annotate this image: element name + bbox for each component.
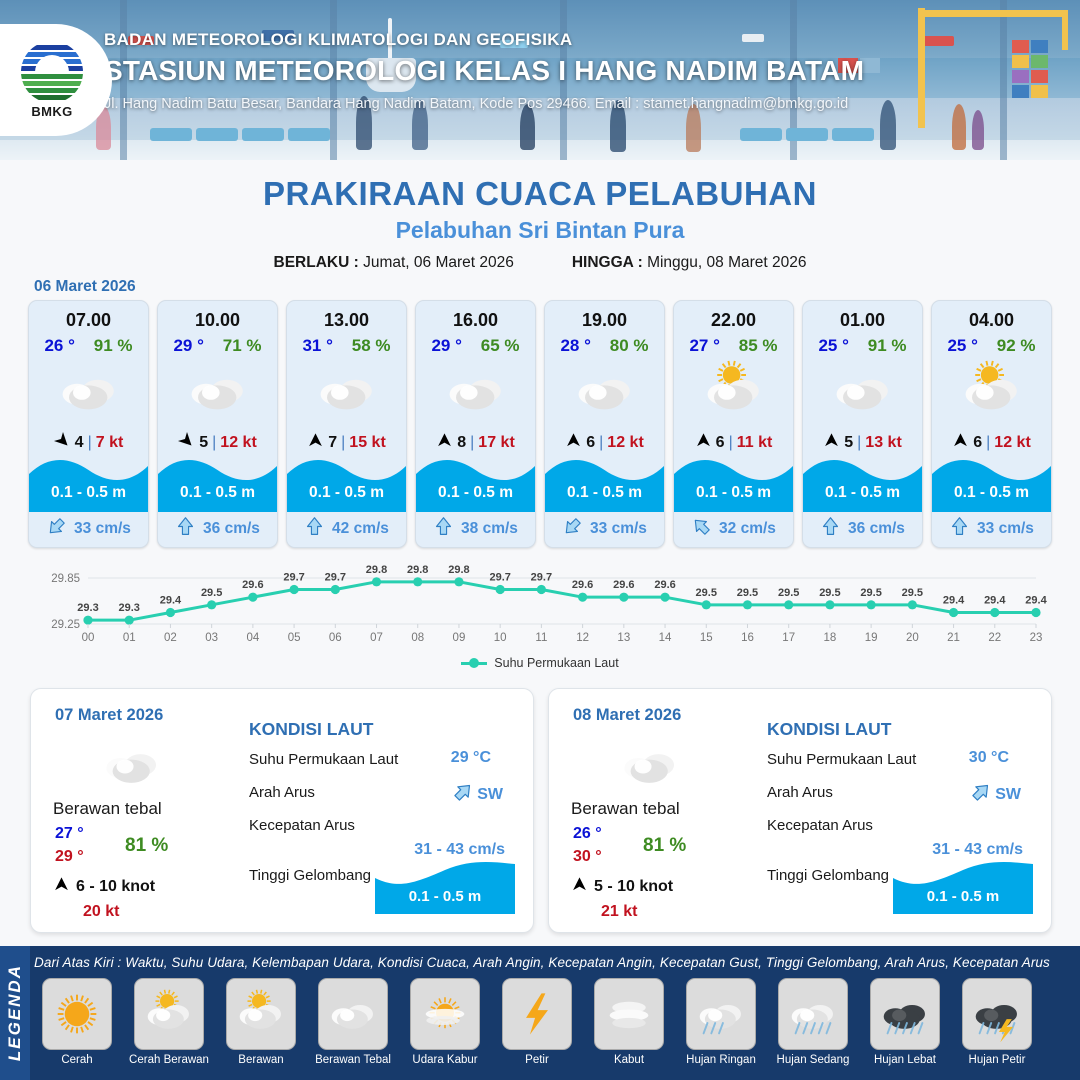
current-direction-arrow-icon [46, 516, 67, 542]
weather-hujan-ringan-icon [686, 978, 756, 1050]
hourly-temperature: 29 ° [431, 336, 461, 356]
hourly-current-row: 32 cm/s [674, 512, 793, 547]
legenda-item: Hujan Ringan [678, 978, 764, 1067]
hourly-card[interactable]: 16.00 29 ° 65 % 8 | 17 kt 0.1 - 0.5 m [415, 300, 536, 548]
svg-text:22: 22 [988, 632, 1001, 644]
valid-from-value: Jumat, 06 Maret 2026 [363, 254, 514, 271]
legenda-item-label: Petir [525, 1054, 549, 1067]
wave-shape-icon [893, 860, 1033, 914]
hourly-temp-hum-row: 29 ° 65 % [416, 336, 535, 356]
hourly-temperature: 25 ° [947, 336, 977, 356]
current-direction-label: Arah Arus [767, 784, 833, 801]
weather-cerah-berawan-icon [674, 360, 793, 422]
hourly-time: 07.00 [29, 310, 148, 331]
sst-label: Suhu Permukaan Laut [767, 751, 916, 768]
legenda-item: Berawan Tebal [310, 978, 396, 1067]
svg-text:29.5: 29.5 [902, 587, 923, 599]
daily-wind-row: 5 - 10 knot [571, 876, 673, 898]
hourly-time: 04.00 [932, 310, 1051, 331]
daily-date: 07 Maret 2026 [55, 706, 163, 725]
hourly-temp-hum-row: 31 ° 58 % [287, 336, 406, 356]
svg-text:29.4: 29.4 [160, 595, 182, 607]
weather-petir-icon [502, 978, 572, 1050]
svg-text:12: 12 [576, 632, 589, 644]
weather-hujan-lebat-icon [870, 978, 940, 1050]
current-direction-arrow-icon [820, 516, 841, 542]
svg-text:21: 21 [947, 632, 960, 644]
hourly-temp-hum-row: 25 ° 92 % [932, 336, 1051, 356]
hourly-temperature: 29 ° [173, 336, 203, 356]
hourly-current-row: 33 cm/s [29, 512, 148, 547]
svg-text:29.5: 29.5 [737, 587, 758, 599]
hourly-temp-hum-row: 25 ° 91 % [803, 336, 922, 356]
legenda-section: LEGENDA Dari Atas Kiri : Waktu, Suhu Uda… [0, 946, 1080, 1080]
svg-text:06: 06 [329, 632, 342, 644]
daily-date: 08 Maret 2026 [573, 706, 681, 725]
header-text-block: BADAN METEOROLOGI KLIMATOLOGI DAN GEOFIS… [104, 30, 1054, 112]
hourly-wave-height: 0.1 - 0.5 m [29, 484, 148, 502]
seat-icon [242, 128, 284, 141]
wave-shape-icon [375, 860, 515, 914]
page-subtitle: Pelabuhan Sri Bintan Pura [0, 217, 1080, 244]
daily-gust-speed: 20 kt [83, 903, 119, 921]
wave-shape-icon [674, 450, 793, 512]
legenda-item-label: Hujan Lebat [874, 1054, 936, 1067]
weather-kabut-icon [594, 978, 664, 1050]
hourly-time: 16.00 [416, 310, 535, 331]
svg-text:29.8: 29.8 [407, 564, 428, 576]
validity-row: BERLAKU : Jumat, 06 Maret 2026 HINGGA : … [0, 254, 1080, 272]
weather-berawan-tebal-icon [545, 360, 664, 422]
svg-text:16: 16 [741, 632, 754, 644]
title-block: PRAKIRAAN CUACA PELABUHAN Pelabuhan Sri … [0, 160, 1080, 272]
hourly-temperature: 31 ° [302, 336, 332, 356]
svg-text:29.7: 29.7 [283, 572, 304, 584]
daily-current-direction-text: SW [477, 786, 503, 804]
hourly-time: 10.00 [158, 310, 277, 331]
hourly-humidity: 65 % [481, 336, 520, 356]
bmkg-logo-text: BMKG [31, 104, 72, 119]
legenda-item: Cerah [34, 978, 120, 1067]
daily-current-direction: SW [452, 781, 503, 808]
page-title: PRAKIRAAN CUACA PELABUHAN [0, 175, 1080, 213]
hourly-temperature: 26 ° [44, 336, 74, 356]
agency-name: BADAN METEOROLOGI KLIMATOLOGI DAN GEOFIS… [104, 30, 1054, 50]
svg-text:15: 15 [700, 632, 713, 644]
hourly-temp-hum-row: 28 ° 80 % [545, 336, 664, 356]
current-direction-arrow-icon [304, 516, 325, 542]
legenda-item-label: Berawan Tebal [315, 1054, 391, 1067]
svg-text:29.7: 29.7 [489, 572, 510, 584]
hourly-temperature: 25 ° [818, 336, 848, 356]
current-direction-arrow-icon [562, 516, 583, 542]
sst-label: Suhu Permukaan Laut [249, 751, 398, 768]
crane-arm-icon [918, 10, 1068, 17]
daily-temp-max: 30 ° [573, 848, 602, 866]
hourly-temp-hum-row: 27 ° 85 % [674, 336, 793, 356]
hourly-temp-hum-row: 26 ° 91 % [29, 336, 148, 356]
svg-text:29.3: 29.3 [119, 602, 140, 614]
hourly-wave-block: 0.1 - 0.5 m [287, 454, 406, 512]
hourly-current-row: 38 cm/s [416, 512, 535, 547]
hourly-temperature: 28 ° [560, 336, 590, 356]
hourly-wave-height: 0.1 - 0.5 m [416, 484, 535, 502]
svg-text:29.85: 29.85 [51, 573, 80, 585]
svg-text:08: 08 [411, 632, 424, 644]
hourly-time: 19.00 [545, 310, 664, 331]
hourly-current-speed: 33 cm/s [977, 520, 1034, 538]
station-name: STASIUN METEOROLOGI KELAS I HANG NADIM B… [104, 55, 1054, 87]
hourly-time: 22.00 [674, 310, 793, 331]
svg-text:29.7: 29.7 [325, 572, 346, 584]
svg-text:29.6: 29.6 [572, 579, 593, 591]
weather-berawan-tebal-icon [158, 360, 277, 422]
hourly-wave-height: 0.1 - 0.5 m [158, 484, 277, 502]
hourly-temp-hum-row: 29 ° 71 % [158, 336, 277, 356]
legenda-item: Kabut [586, 978, 672, 1067]
svg-text:01: 01 [123, 632, 136, 644]
legenda-item: Udara Kabur [402, 978, 488, 1067]
svg-text:07: 07 [370, 632, 383, 644]
svg-text:29.3: 29.3 [77, 602, 98, 614]
daily-forecast-card[interactable]: 08 Maret 2026 Berawan tebal 26 ° 30 ° 81… [548, 688, 1052, 933]
hourly-wave-block: 0.1 - 0.5 m [932, 454, 1051, 512]
station-address: Jl. Hang Nadim Batu Besar, Bandara Hang … [104, 96, 1054, 112]
current-speed-label: Kecepatan Arus [767, 817, 873, 834]
seat-icon [288, 128, 330, 141]
legenda-item: Berawan [218, 978, 304, 1067]
legenda-side-label: LEGENDA [5, 964, 25, 1061]
svg-text:00: 00 [82, 632, 95, 644]
daily-wind-speed: 5 - 10 knot [594, 878, 673, 896]
valid-to-label: HINGGA : [572, 254, 643, 271]
current-direction-arrow-icon [949, 516, 970, 542]
svg-text:29.6: 29.6 [613, 579, 634, 591]
legenda-item-label: Berawan [238, 1054, 283, 1067]
seat-icon [196, 128, 238, 141]
svg-text:18: 18 [824, 632, 837, 644]
legenda-item-label: Cerah [61, 1054, 92, 1067]
crane-hoist-icon [1062, 10, 1068, 50]
daily-humidity: 81 % [643, 835, 686, 857]
svg-text:10: 10 [494, 632, 507, 644]
legend-label: Suhu Permukaan Laut [494, 656, 618, 670]
bmkg-logo: BMKG [0, 24, 112, 136]
hourly-card[interactable]: 22.00 27 ° 85 % 6 | 11 kt [673, 300, 794, 548]
svg-text:29.8: 29.8 [366, 564, 387, 576]
svg-text:29.4: 29.4 [984, 595, 1006, 607]
svg-text:09: 09 [453, 632, 466, 644]
hourly-current-speed: 36 cm/s [203, 520, 260, 538]
weather-berawan-tebal-icon [611, 734, 689, 801]
valid-from-label: BERLAKU : [274, 254, 359, 271]
svg-text:03: 03 [205, 632, 218, 644]
svg-text:29.6: 29.6 [242, 579, 263, 591]
weather-berawan-icon [226, 978, 296, 1050]
hourly-humidity: 91 % [868, 336, 907, 356]
daily-condition: Berawan tebal [571, 799, 680, 819]
person-icon [972, 110, 984, 150]
daily-wind-row: 6 - 10 knot [53, 876, 155, 898]
wave-shape-icon [287, 450, 406, 512]
svg-text:29.6: 29.6 [654, 579, 675, 591]
weather-berawan-tebal-icon [287, 360, 406, 422]
hourly-time: 13.00 [287, 310, 406, 331]
current-direction-arrow-icon [970, 781, 992, 808]
legenda-items: Cerah Cerah Berawan Berawan [34, 978, 1074, 1067]
daily-wave-block: 0.1 - 0.5 m [375, 860, 515, 914]
svg-text:29.25: 29.25 [51, 619, 80, 631]
svg-text:17: 17 [782, 632, 795, 644]
hourly-current-row: 36 cm/s [803, 512, 922, 547]
daily-temp-max: 29 ° [55, 848, 84, 866]
svg-text:29.8: 29.8 [448, 564, 469, 576]
current-direction-arrow-icon [175, 516, 196, 542]
daily-forecast-row: 07 Maret 2026 Berawan tebal 27 ° 29 ° 81… [30, 688, 1052, 933]
sea-condition-title: KONDISI LAUT [249, 719, 373, 740]
hourly-humidity: 91 % [94, 336, 133, 356]
wave-shape-icon [158, 450, 277, 512]
hourly-current-speed: 32 cm/s [719, 520, 776, 538]
hourly-humidity: 92 % [997, 336, 1036, 356]
weather-berawan-tebal-icon [416, 360, 535, 422]
hourly-current-speed: 33 cm/s [74, 520, 131, 538]
legenda-item-label: Hujan Sedang [777, 1054, 850, 1067]
svg-text:04: 04 [246, 632, 259, 644]
daily-temp-min: 26 ° [573, 825, 602, 843]
valid-from: BERLAKU : Jumat, 06 Maret 2026 [274, 254, 514, 272]
daily-temp-min: 27 ° [55, 825, 84, 843]
seat-icon [150, 128, 192, 141]
hourly-current-speed: 36 cm/s [848, 520, 905, 538]
hourly-wave-height: 0.1 - 0.5 m [287, 484, 406, 502]
legend-line-marker [461, 662, 487, 665]
daily-humidity: 81 % [125, 835, 168, 857]
svg-text:11: 11 [535, 632, 547, 644]
hourly-wave-height: 0.1 - 0.5 m [803, 484, 922, 502]
daily-forecast-card[interactable]: 07 Maret 2026 Berawan tebal 27 ° 29 ° 81… [30, 688, 534, 933]
hourly-current-speed: 38 cm/s [461, 520, 518, 538]
weather-berawan-tebal-icon [318, 978, 388, 1050]
legenda-side-tab: LEGENDA [0, 946, 30, 1080]
sst-chart-svg: 29.8529.2529.30029.30129.40229.50329.604… [28, 556, 1052, 656]
svg-text:23: 23 [1030, 632, 1043, 644]
svg-text:29.4: 29.4 [943, 595, 965, 607]
current-direction-arrow-icon [433, 516, 454, 542]
weather-cerah-berawan-icon [932, 360, 1051, 422]
current-direction-arrow-icon [452, 781, 474, 808]
daily-current-speed: 31 - 43 cm/s [932, 841, 1023, 859]
legenda-item: Hujan Lebat [862, 978, 948, 1067]
weather-hujan-petir-icon [962, 978, 1032, 1050]
current-direction-arrow-icon [691, 516, 712, 542]
hourly-wave-block: 0.1 - 0.5 m [545, 454, 664, 512]
hourly-wave-height: 0.1 - 0.5 m [674, 484, 793, 502]
weather-berawan-tebal-icon [803, 360, 922, 422]
daily-wave-block: 0.1 - 0.5 m [893, 860, 1033, 914]
hourly-card[interactable]: 07.00 26 ° 91 % 4 | 7 kt 0.1 - 0.5 m [28, 300, 149, 548]
current-direction-label: Arah Arus [249, 784, 315, 801]
chart-legend: Suhu Permukaan Laut [28, 656, 1052, 670]
hourly-current-row: 36 cm/s [158, 512, 277, 547]
svg-text:29.5: 29.5 [860, 587, 881, 599]
hourly-humidity: 80 % [610, 336, 649, 356]
svg-text:20: 20 [906, 632, 919, 644]
weather-cerah-icon [42, 978, 112, 1050]
legenda-item: Hujan Petir [954, 978, 1040, 1067]
hourly-temperature: 27 ° [689, 336, 719, 356]
hourly-wave-height: 0.1 - 0.5 m [932, 484, 1051, 502]
hourly-wave-block: 0.1 - 0.5 m [674, 454, 793, 512]
legenda-item: Hujan Sedang [770, 978, 856, 1067]
hourly-humidity: 85 % [739, 336, 778, 356]
hourly-time: 01.00 [803, 310, 922, 331]
seat-icon [786, 128, 828, 141]
header-floor [0, 140, 1080, 160]
legenda-item: Petir [494, 978, 580, 1067]
hourly-humidity: 58 % [352, 336, 391, 356]
daily-current-speed: 31 - 43 cm/s [414, 841, 505, 859]
wave-shape-icon [416, 450, 535, 512]
weather-berawan-tebal-icon [29, 360, 148, 422]
daily-current-direction-text: SW [995, 786, 1021, 804]
hourly-current-speed: 42 cm/s [332, 520, 389, 538]
hourly-date-label: 06 Maret 2026 [34, 278, 136, 296]
hourly-card[interactable]: 10.00 29 ° 71 % 5 | 12 kt 0.1 - 0.5 m [157, 300, 278, 548]
weather-cerah-berawan-icon [134, 978, 204, 1050]
hourly-wave-block: 0.1 - 0.5 m [158, 454, 277, 512]
wave-shape-icon [545, 450, 664, 512]
weather-hujan-sedang-icon [778, 978, 848, 1050]
legenda-item-label: Hujan Ringan [686, 1054, 756, 1067]
hourly-wave-block: 0.1 - 0.5 m [416, 454, 535, 512]
daily-condition: Berawan tebal [53, 799, 162, 819]
hourly-card[interactable]: 13.00 31 ° 58 % 7 | 15 kt 0.1 - 0.5 m [286, 300, 407, 548]
hourly-humidity: 71 % [223, 336, 262, 356]
legenda-item: Cerah Berawan [126, 978, 212, 1067]
svg-text:29.5: 29.5 [819, 587, 840, 599]
hourly-forecast-row: 07.00 26 ° 91 % 4 | 7 kt 0.1 - 0.5 m [28, 300, 1052, 548]
wave-shape-icon [803, 450, 922, 512]
legenda-item-label: Hujan Petir [969, 1054, 1026, 1067]
hourly-card[interactable]: 19.00 28 ° 80 % 6 | 12 kt 0.1 - 0.5 m [544, 300, 665, 548]
sst-chart: 29.8529.2529.30029.30129.40229.50329.604… [28, 556, 1052, 684]
wind-direction-arrow-icon [571, 876, 588, 898]
hourly-current-row: 33 cm/s [545, 512, 664, 547]
page-header: BMKG BADAN METEOROLOGI KLIMATOLOGI DAN G… [0, 0, 1080, 160]
daily-wave-height: 0.1 - 0.5 m [893, 888, 1033, 905]
wave-shape-icon [29, 450, 148, 512]
current-speed-label: Kecepatan Arus [249, 817, 355, 834]
wave-shape-icon [932, 450, 1051, 512]
legenda-note: Dari Atas Kiri : Waktu, Suhu Udara, Kele… [34, 955, 1050, 970]
sea-condition-title: KONDISI LAUT [767, 719, 891, 740]
weather-udara-kabur-icon [410, 978, 480, 1050]
daily-current-direction: SW [970, 781, 1021, 808]
seat-icon [832, 128, 874, 141]
seat-icon [740, 128, 782, 141]
legenda-item-label: Cerah Berawan [129, 1054, 209, 1067]
hourly-wave-block: 0.1 - 0.5 m [29, 454, 148, 512]
daily-sst-value: 29 °C [451, 749, 491, 767]
hourly-wave-block: 0.1 - 0.5 m [803, 454, 922, 512]
svg-text:29.7: 29.7 [531, 572, 552, 584]
bmkg-logo-circle [21, 41, 83, 103]
hourly-card[interactable]: 01.00 25 ° 91 % 5 | 13 kt 0.1 - 0.5 m [802, 300, 923, 548]
hourly-card[interactable]: 04.00 25 ° 92 % 6 | 12 kt [931, 300, 1052, 548]
daily-gust-speed: 21 kt [601, 903, 637, 921]
wave-height-label: Tinggi Gelombang [249, 867, 371, 884]
hourly-current-speed: 33 cm/s [590, 520, 647, 538]
legenda-item-label: Kabut [614, 1054, 644, 1067]
hourly-wave-height: 0.1 - 0.5 m [545, 484, 664, 502]
daily-sst-value: 30 °C [969, 749, 1009, 767]
hourly-current-row: 33 cm/s [932, 512, 1051, 547]
wind-direction-arrow-icon [53, 876, 70, 898]
legenda-item-label: Udara Kabur [412, 1054, 477, 1067]
svg-text:02: 02 [164, 632, 177, 644]
weather-berawan-tebal-icon [93, 734, 171, 801]
svg-text:29.5: 29.5 [778, 587, 799, 599]
valid-to: HINGGA : Minggu, 08 Maret 2026 [572, 254, 807, 272]
svg-text:29.5: 29.5 [201, 587, 222, 599]
wave-height-label: Tinggi Gelombang [767, 867, 889, 884]
svg-text:05: 05 [288, 632, 301, 644]
daily-wave-height: 0.1 - 0.5 m [375, 888, 515, 905]
svg-text:19: 19 [865, 632, 878, 644]
daily-wind-speed: 6 - 10 knot [76, 878, 155, 896]
svg-text:13: 13 [617, 632, 630, 644]
hourly-current-row: 42 cm/s [287, 512, 406, 547]
svg-text:29.4: 29.4 [1025, 595, 1047, 607]
svg-text:14: 14 [659, 632, 672, 644]
valid-to-value: Minggu, 08 Maret 2026 [647, 254, 806, 271]
svg-text:29.5: 29.5 [696, 587, 717, 599]
